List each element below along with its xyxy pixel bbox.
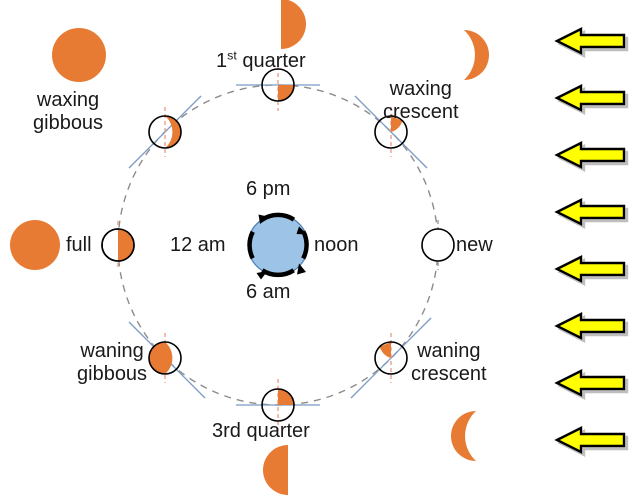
label-waxing-gibbous: waxing gibbous [33, 89, 103, 135]
phase-icon-full [10, 220, 60, 270]
earth-time-left-text: 12 am [170, 234, 226, 256]
label-first-quarter-text: 1st quarter [216, 50, 306, 72]
earth-time-bottom-text: 6 am [246, 281, 290, 303]
label-waxing-gibbous-line2: gibbous [33, 112, 103, 135]
label-waning-gibbous: waning gibbous [77, 340, 147, 386]
label-full: full [66, 234, 92, 257]
earth-time-right-text: noon [314, 234, 359, 256]
label-waning-crescent: waning crescent [411, 340, 487, 386]
label-first-quarter: 1st quarter [216, 50, 306, 73]
label-new-text: new [456, 234, 493, 256]
label-earth-time-6am: 6 am [246, 281, 290, 304]
label-earth-time-12am: 12 am [170, 234, 226, 257]
label-new: new [456, 234, 493, 257]
ring-moon-full [102, 221, 134, 269]
phase-icon-third-quarter [263, 445, 288, 495]
label-waxing-crescent-line1: waxing [383, 78, 459, 101]
label-waxing-crescent-line2: crescent [383, 101, 459, 124]
sunlight-arrow [557, 371, 624, 395]
phase-icon-waning-gibbous [52, 411, 79, 465]
label-waxing-crescent: waxing crescent [383, 78, 459, 124]
sunlight-arrow [557, 86, 624, 110]
label-waxing-gibbous-line1: waxing [33, 89, 103, 112]
phase-icon-waning-crescent [451, 411, 476, 461]
label-full-text: full [66, 234, 92, 256]
label-earth-time-6pm: 6 pm [246, 178, 290, 201]
label-waning-gibbous-line2: gibbous [77, 363, 147, 386]
earth-time-top-text: 6 pm [246, 178, 290, 200]
sunlight-arrow [557, 29, 624, 53]
phase-icon-waxing-gibbous [52, 28, 106, 82]
label-third-quarter: 3rd quarter [212, 420, 310, 443]
sunlight-arrow [557, 257, 624, 281]
sunlight-arrows [557, 29, 624, 452]
ring-moon-new [422, 220, 454, 270]
label-third-quarter-text: 3rd quarter [212, 420, 310, 442]
sunlight-arrow [557, 200, 624, 224]
label-waning-crescent-line2: crescent [411, 363, 487, 386]
sunlight-arrow [557, 428, 624, 452]
phase-icon-waxing-crescent [464, 30, 489, 80]
label-waning-crescent-line1: waning [411, 340, 487, 363]
phase-icon-first-quarter [281, 0, 306, 49]
sunlight-arrow [557, 143, 624, 167]
moon-phase-diagram: 1st quarter waxing crescent waxing gibbo… [0, 0, 640, 495]
label-waning-gibbous-line1: waning [77, 340, 147, 363]
ring-moon-waxing-gibbous [129, 96, 201, 168]
label-earth-time-noon: noon [314, 234, 359, 257]
sunlight-arrow [557, 314, 624, 338]
